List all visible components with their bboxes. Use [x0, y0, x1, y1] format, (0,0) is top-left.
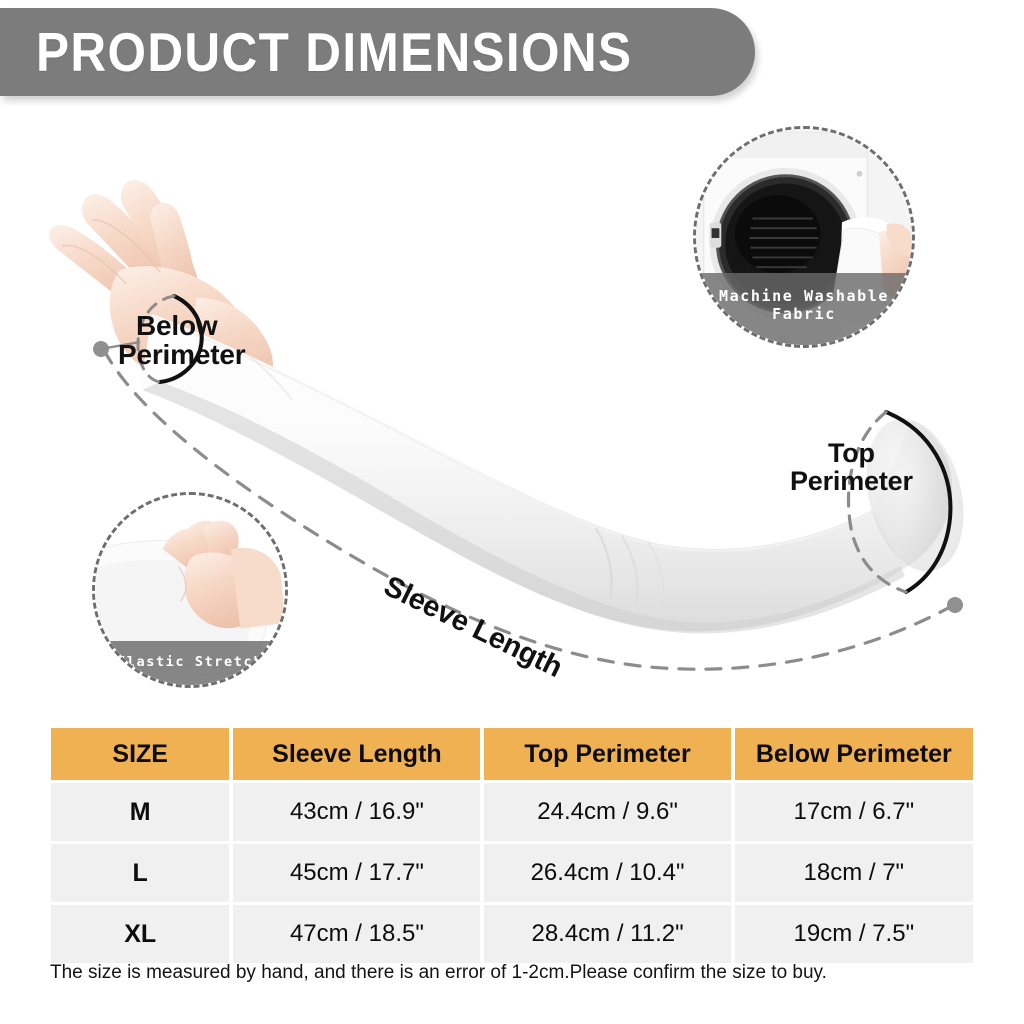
header-banner: PRODUCT DIMENSIONS [0, 8, 755, 96]
page-title: PRODUCT DIMENSIONS [36, 20, 632, 84]
table-header-top-perimeter: Top Perimeter [484, 728, 730, 780]
table-row: L 45cm / 17.7" 26.4cm / 10.4" 18cm / 7" [51, 844, 973, 902]
cell-top-perimeter: 28.4cm / 11.2" [484, 905, 730, 963]
cell-sleeve-length: 43cm / 16.9" [233, 783, 480, 841]
cuff-graphic [849, 408, 979, 592]
cell-below-perimeter: 17cm / 6.7" [735, 783, 973, 841]
callout-top-line1: Top [828, 438, 875, 468]
cell-sleeve-length: 45cm / 17.7" [233, 844, 480, 902]
cell-sleeve-length: 47cm / 18.5" [233, 905, 480, 963]
cell-below-perimeter: 18cm / 7" [735, 844, 973, 902]
inset-caption-elastic-stretch: Elastic Stretch [95, 641, 285, 685]
table-row: XL 47cm / 18.5" 28.4cm / 11.2" 19cm / 7.… [51, 905, 973, 963]
size-table: SIZE Sleeve Length Top Perimeter Below P… [47, 725, 977, 966]
inset-elastic-stretch: Elastic Stretch [92, 492, 288, 688]
callout-top-perimeter: Top Perimeter [790, 440, 913, 495]
measurement-note: The size is measured by hand, and there … [50, 962, 990, 984]
table-header-size: SIZE [51, 728, 229, 780]
callout-below-perimeter: Below Perimeter [136, 312, 245, 369]
inset-caption-machine-washable: Machine Washable Fabric [696, 273, 912, 345]
callout-below-line1: Below [136, 310, 217, 341]
cell-top-perimeter: 26.4cm / 10.4" [484, 844, 730, 902]
callout-top-line2: Perimeter [790, 466, 913, 496]
table-row: M 43cm / 16.9" 24.4cm / 9.6" 17cm / 6.7" [51, 783, 973, 841]
table-header-sleeve-length: Sleeve Length [233, 728, 480, 780]
cell-size: XL [51, 905, 229, 963]
cell-below-perimeter: 19cm / 7.5" [735, 905, 973, 963]
measure-endpoint-dot [947, 597, 963, 613]
inset-caption-line1: Elastic Stretch [117, 655, 263, 671]
table-header-below-perimeter: Below Perimeter [735, 728, 973, 780]
cell-size: L [51, 844, 229, 902]
inset-caption-line2: Fabric [772, 306, 836, 324]
table-header-row: SIZE Sleeve Length Top Perimeter Below P… [51, 728, 973, 780]
cell-top-perimeter: 24.4cm / 9.6" [484, 783, 730, 841]
callout-below-line2: Perimeter [118, 341, 245, 370]
inset-caption-line1: Machine Washable [719, 288, 889, 306]
inset-machine-washable: Machine Washable Fabric [693, 126, 915, 348]
cell-size: M [51, 783, 229, 841]
size-table-wrapper: SIZE Sleeve Length Top Perimeter Below P… [47, 725, 977, 966]
product-illustration: Below Perimeter Top Perimeter Sleeve Len… [0, 100, 1024, 700]
